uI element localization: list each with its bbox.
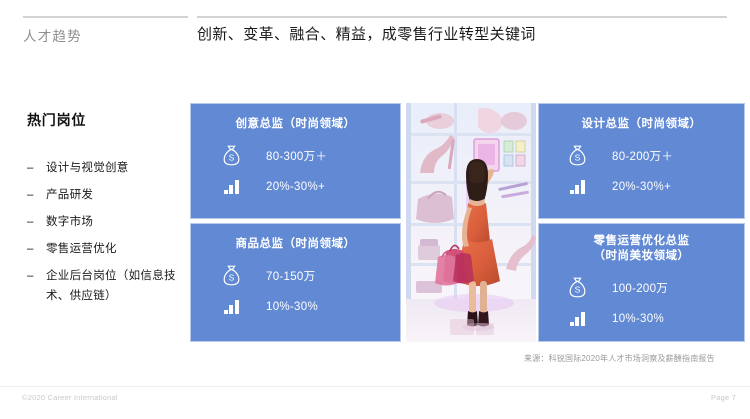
list-item: – 零售运营优化 — [27, 239, 182, 259]
role-card-title-line1: 零售运营优化总监 — [538, 234, 745, 249]
role-card-metrics: S 80-200万＋ 20%-30%+ — [538, 140, 745, 202]
page-title: 创新、变革、融合、精益，成零售行业转型关键词 — [197, 23, 536, 44]
svg-text:S: S — [228, 273, 234, 283]
growth-value: 10%-30% — [244, 301, 318, 313]
hot-roles-panel: 热门岗位 – 设计与视觉创意 – 产品研发 – 数字市场 – 零售运营优化 – … — [27, 110, 182, 313]
list-item-label: 设计与视觉创意 — [46, 162, 129, 174]
source-note: 来源：科锐国际2020年人才市场洞察及薪酬指南报告 — [524, 353, 715, 364]
role-card-merchandise-director[interactable]: 商品总监（时尚领域） S 70-150万 10%-30% — [190, 223, 401, 342]
salary-row: S 80-300万＋ — [190, 140, 401, 171]
list-item: – 产品研发 — [27, 185, 182, 205]
bar-chart-icon — [218, 180, 244, 194]
svg-text:S: S — [228, 153, 234, 163]
svg-text:S: S — [574, 285, 580, 295]
footer-divider — [0, 386, 750, 387]
role-card-design-director[interactable]: 设计总监（时尚领域） S 80-200万＋ 20%-30%+ — [538, 103, 745, 219]
salary-row: S 80-200万＋ — [538, 140, 745, 171]
header-rule-right — [197, 16, 727, 18]
bar-chart-icon — [218, 300, 244, 314]
dash-icon: – — [27, 266, 34, 286]
role-card-metrics: S 70-150万 10%-30% — [190, 260, 401, 322]
retail-shopper-illustration — [406, 103, 536, 342]
salary-row: S 100-200万 — [538, 272, 745, 303]
salary-value: 80-200万＋ — [590, 148, 673, 164]
header-rules — [0, 16, 750, 19]
list-item-label: 产品研发 — [46, 189, 93, 201]
header-rule-left — [23, 16, 188, 18]
role-card-metrics: S 100-200万 10%-30% — [538, 272, 745, 334]
salary-value: 70-150万 — [244, 268, 315, 284]
role-card-title: 商品总监（时尚领域） — [190, 223, 401, 252]
role-card-retail-ops-director[interactable]: 零售运营优化总监 （时尚美妆领域） S 100-200万 10%-30% — [538, 223, 745, 342]
section-kicker: 人才趋势 — [23, 25, 82, 45]
money-bag-icon: S — [218, 265, 244, 286]
bar-chart-icon — [564, 312, 590, 326]
role-card-metrics: S 80-300万＋ 20%-30%+ — [190, 140, 401, 202]
growth-value: 20%-30%+ — [244, 181, 325, 193]
role-card-title: 创意总监（时尚领域） — [190, 103, 401, 132]
money-bag-icon: S — [218, 145, 244, 166]
list-item: – 数字市场 — [27, 212, 182, 232]
hot-roles-list: – 设计与视觉创意 – 产品研发 – 数字市场 – 零售运营优化 – 企业后台岗… — [27, 158, 182, 306]
hot-roles-title: 热门岗位 — [27, 110, 182, 130]
growth-value: 20%-30%+ — [590, 181, 671, 193]
role-card-title: 设计总监（时尚领域） — [538, 103, 745, 132]
dash-icon: – — [27, 239, 34, 259]
money-bag-icon: S — [564, 277, 590, 298]
footer-copyright: ©2020 Career International — [22, 393, 118, 402]
dash-icon: – — [27, 158, 34, 178]
money-bag-icon: S — [564, 145, 590, 166]
salary-value: 100-200万 — [590, 280, 668, 296]
salary-value: 80-300万＋ — [244, 148, 327, 164]
list-item-label: 零售运营优化 — [46, 243, 117, 255]
list-item-label: 企业后台岗位（如信息技术、供应链） — [46, 270, 176, 302]
bar-chart-icon — [564, 180, 590, 194]
dash-icon: – — [27, 212, 34, 232]
growth-value: 10%-30% — [590, 313, 664, 325]
role-card-title: 零售运营优化总监 （时尚美妆领域） — [538, 223, 745, 264]
retail-shopper-photo — [406, 103, 536, 342]
growth-row: 10%-30% — [538, 303, 745, 334]
salary-row: S 70-150万 — [190, 260, 401, 291]
growth-row: 20%-30%+ — [190, 171, 401, 202]
role-card-title-line2: （时尚美妆领域） — [538, 249, 745, 264]
dash-icon: – — [27, 185, 34, 205]
footer-page-number: Page 7 — [711, 393, 736, 402]
svg-text:S: S — [574, 153, 580, 163]
list-item: – 设计与视觉创意 — [27, 158, 182, 178]
list-item: – 企业后台岗位（如信息技术、供应链） — [27, 266, 182, 306]
growth-row: 10%-30% — [190, 291, 401, 322]
list-item-label: 数字市场 — [46, 216, 93, 228]
growth-row: 20%-30%+ — [538, 171, 745, 202]
role-card-creative-director[interactable]: 创意总监（时尚领域） S 80-300万＋ 20%-30%+ — [190, 103, 401, 219]
